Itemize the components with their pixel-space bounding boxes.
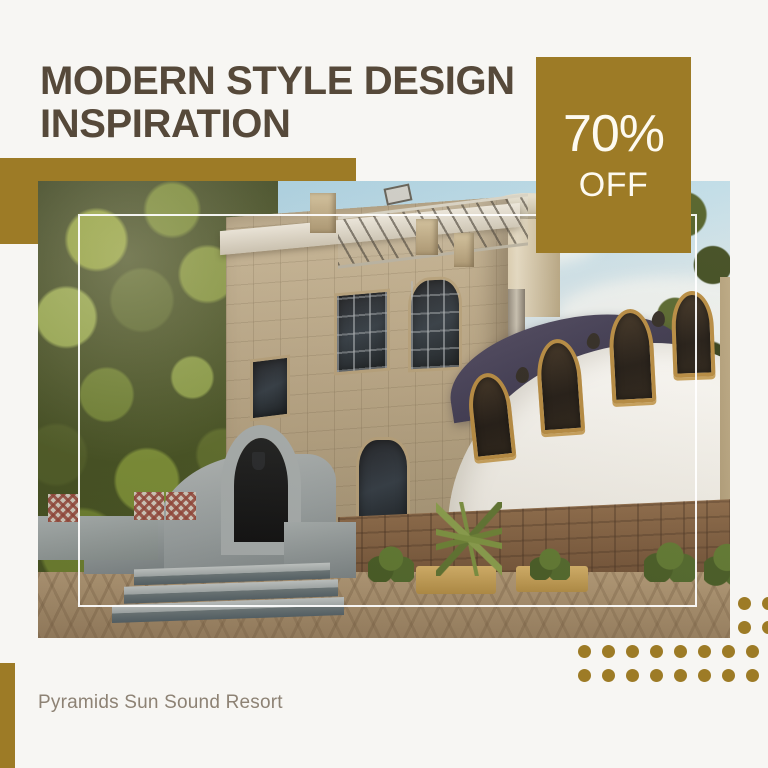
decorative-dot — [722, 669, 735, 682]
dot-grid-upper — [738, 597, 768, 645]
decorative-dot — [674, 645, 687, 658]
discount-off-label: OFF — [579, 168, 648, 202]
decorative-dot — [626, 669, 639, 682]
dot-row — [738, 621, 768, 645]
ornamental-fence-panel — [134, 492, 164, 520]
window-mullions — [411, 279, 459, 370]
decorative-dot — [746, 645, 759, 658]
dot-row — [578, 645, 768, 669]
window-side-small — [250, 355, 290, 422]
entrance-lantern — [252, 452, 265, 470]
decorative-dot — [762, 621, 768, 634]
decorative-dot — [698, 669, 711, 682]
decorative-dot — [746, 669, 759, 682]
discount-percent: 70% — [563, 108, 664, 160]
dot-row — [578, 669, 768, 693]
ornamental-fence-panel — [166, 492, 196, 520]
caption-text: Pyramids Sun Sound Resort — [38, 692, 283, 714]
decorative-dot — [626, 645, 639, 658]
chimney — [454, 233, 474, 267]
yucca-plant — [436, 502, 502, 576]
chimney — [416, 219, 438, 255]
dot-row — [738, 597, 768, 621]
shrub — [530, 548, 570, 580]
caption-accent-bar — [0, 663, 15, 768]
window-grid-left — [334, 289, 390, 376]
decorative-dot — [650, 669, 663, 682]
decorative-dot — [650, 645, 663, 658]
decorative-dot — [602, 669, 615, 682]
decorative-dot — [762, 597, 768, 610]
decorative-dot — [738, 597, 751, 610]
shrub — [368, 546, 414, 582]
chimney — [310, 193, 336, 233]
shrub — [644, 542, 696, 582]
decorative-dot — [674, 669, 687, 682]
decorative-dot — [578, 669, 591, 682]
low-garden-wall — [38, 516, 158, 560]
window-mullions — [337, 292, 387, 372]
decorative-dot — [722, 645, 735, 658]
window-arched-upper — [408, 276, 462, 373]
decorative-dot — [602, 645, 615, 658]
page-title: MODERN STYLE DESIGN INSPIRATION — [40, 60, 540, 146]
dot-grid-lower — [578, 645, 768, 693]
promo-poster: MODERN STYLE DESIGN INSPIRATION — [0, 0, 768, 768]
decorative-dot — [698, 645, 711, 658]
decorative-dot — [738, 621, 751, 634]
shrub — [704, 542, 730, 586]
discount-badge: 70% OFF — [536, 57, 691, 253]
ornamental-fence-panel — [48, 494, 78, 522]
decorative-dot — [578, 645, 591, 658]
